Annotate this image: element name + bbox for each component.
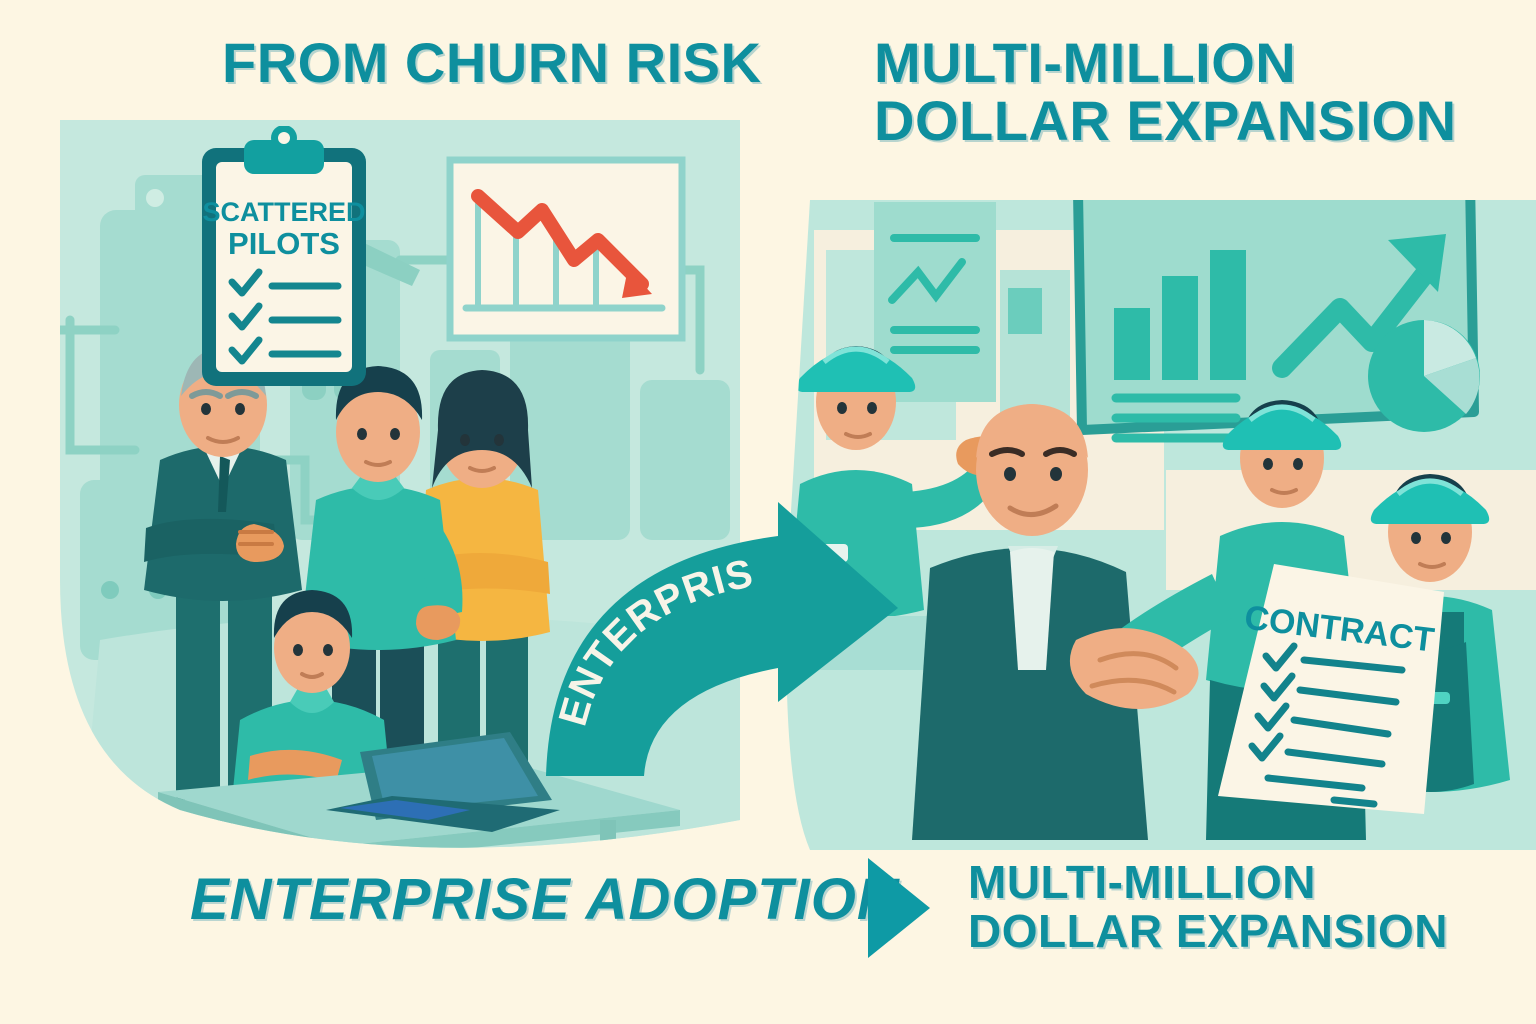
caption-right: MULTI-MILLION DOLLAR EXPANSION [968, 858, 1448, 956]
heading-right: MULTI-MILLION DOLLAR EXPANSION [874, 34, 1457, 149]
clipboard-title-line2: PILOTS [228, 226, 340, 261]
enterprise-transition-arrow: ENTERPRISE [510, 480, 950, 780]
decline-chart [446, 156, 686, 344]
infographic-canvas: SCATTERED PILOTS [0, 0, 1536, 1024]
caption-right-line2: DOLLAR EXPANSION [968, 907, 1448, 956]
pie-chart-icon [1368, 320, 1480, 432]
heading-right-line1: MULTI-MILLION [874, 34, 1457, 92]
clipboard-title-line1: SCATTERED [202, 197, 365, 227]
caption-right-line1: MULTI-MILLION [968, 858, 1448, 907]
arrow-body [546, 502, 898, 776]
contract-sheet: CONTRACT [1208, 556, 1454, 822]
triangle-right-icon [868, 858, 930, 958]
clipboard-paper [216, 162, 352, 372]
scattered-pilots-clipboard: SCATTERED PILOTS [196, 126, 372, 392]
machine-knob [146, 189, 164, 207]
dashboard-board [1078, 180, 1480, 438]
heading-left: FROM CHURN RISK [222, 34, 761, 92]
contract-line [1334, 800, 1374, 804]
clipboard-clip-hole [278, 132, 290, 144]
heading-right-line2: DOLLAR EXPANSION [874, 92, 1457, 150]
machine-knob [101, 581, 119, 599]
caption-left: ENTERPRISE ADOPTION [190, 866, 900, 933]
